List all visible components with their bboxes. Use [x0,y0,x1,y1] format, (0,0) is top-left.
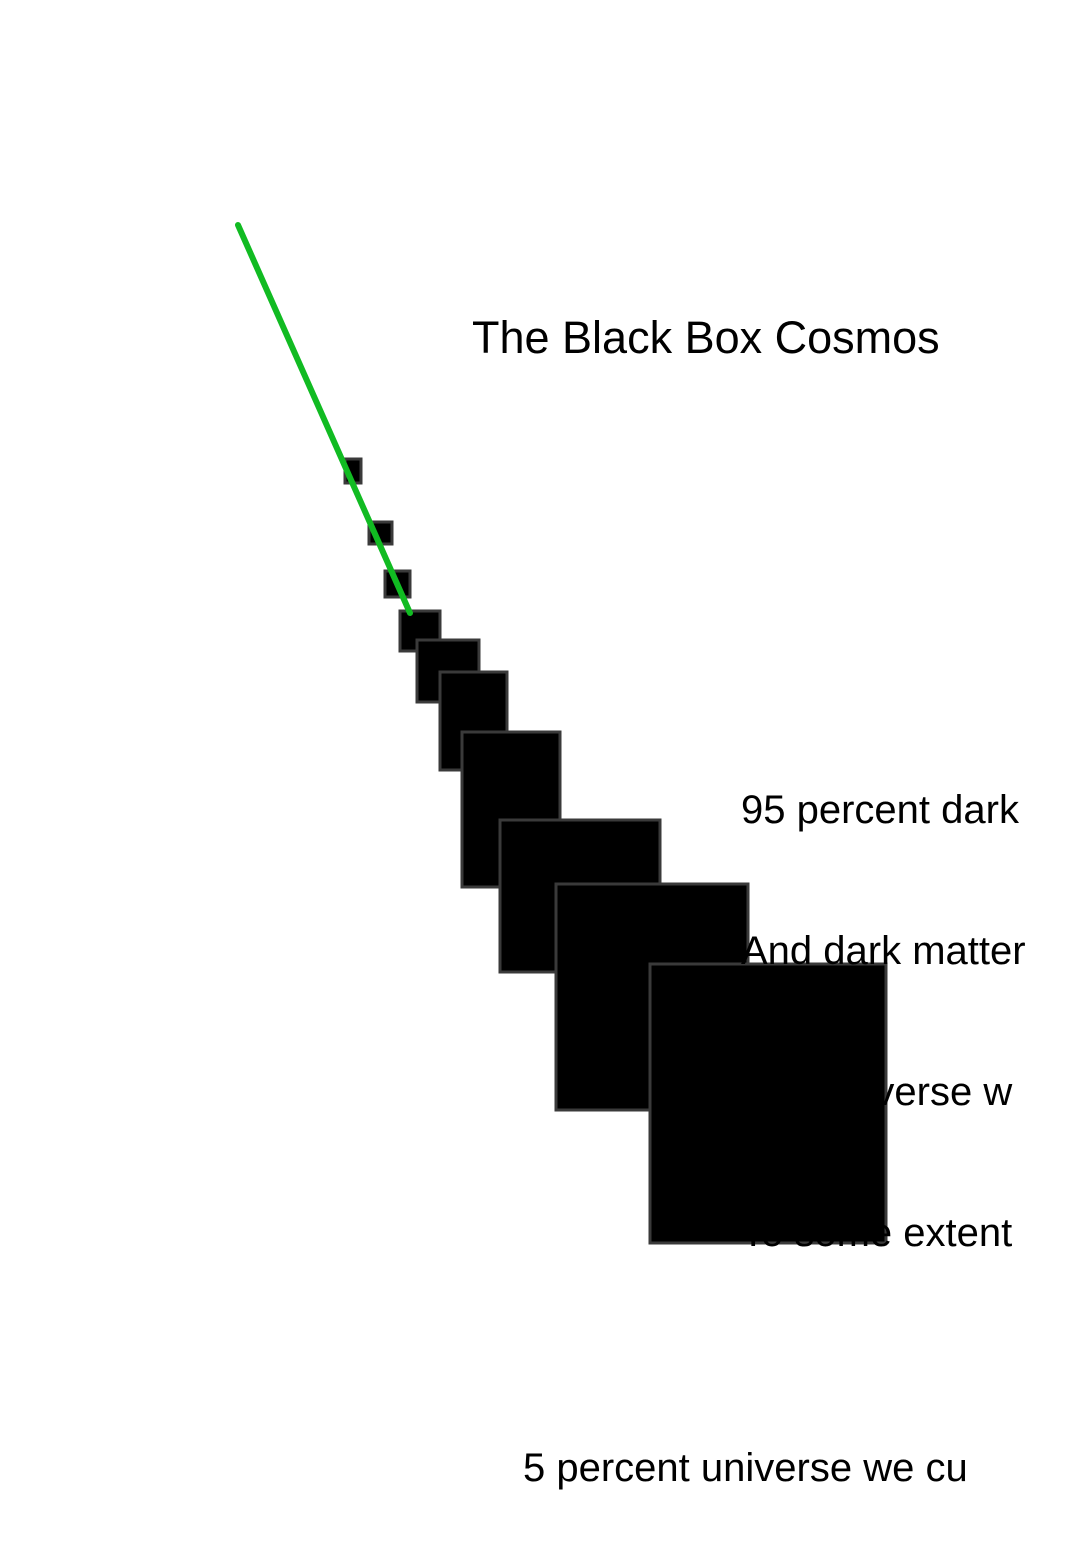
poster-canvas: The Black Box Cosmos 95 percent dark And… [0,0,1079,1551]
page-title: The Black Box Cosmos [472,310,940,365]
body-line-3: The universe w [741,1069,1026,1116]
body-line-1: 95 percent dark [741,787,1026,834]
footer-text-block: 5 percent universe we cu Something about… [523,1343,968,1551]
body-line-4: To some extent [741,1210,1026,1257]
green-trend-line [238,225,410,613]
footer-line-1: 5 percent universe we cu [523,1443,968,1493]
body-text-block: 95 percent dark And dark matter The univ… [741,693,1026,1351]
body-line-2: And dark matter [741,928,1026,975]
